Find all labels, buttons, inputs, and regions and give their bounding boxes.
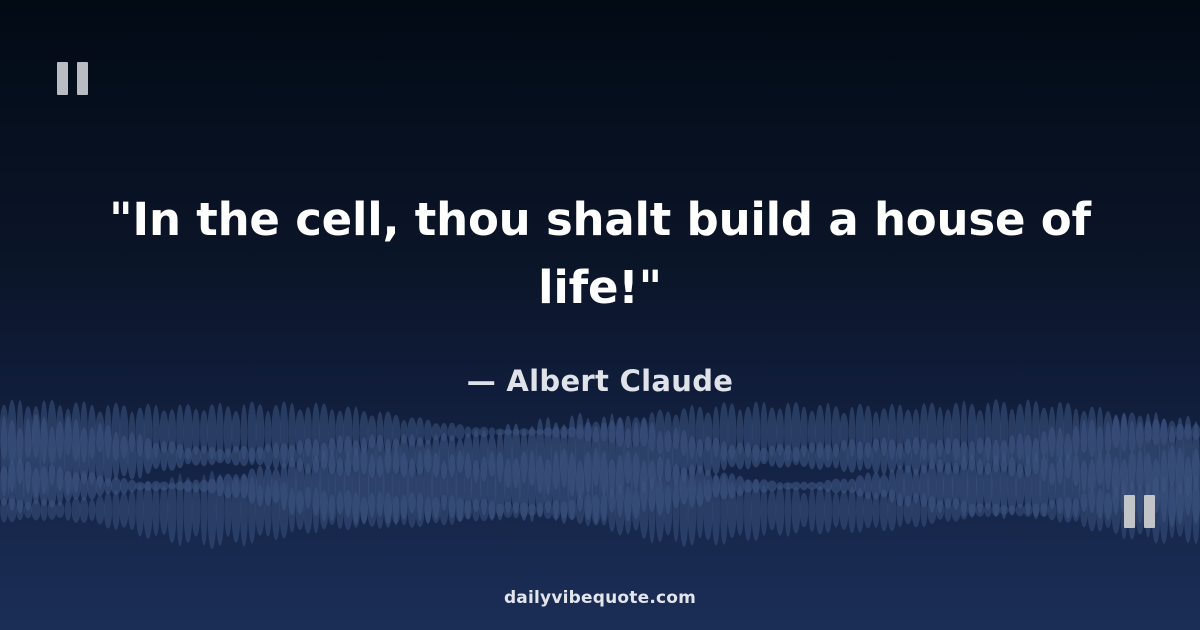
quote-bar-right [77,62,88,95]
quote-card: "In the cell, thou shalt build a house o… [0,0,1200,630]
quote-bar-left [57,62,68,95]
footer-domain: dailyvibequote.com [0,588,1200,608]
quote-mark-open-icon [57,62,88,95]
quote-text: "In the cell, thou shalt build a house o… [80,186,1120,322]
quote-mark-close-icon [1124,495,1155,528]
quote-content: "In the cell, thou shalt build a house o… [0,0,1200,630]
quote-bar-left [1124,495,1135,528]
audio-waveform-icon [0,398,1200,553]
quote-attribution: — Albert Claude [467,364,734,398]
quote-bar-right [1144,495,1155,528]
